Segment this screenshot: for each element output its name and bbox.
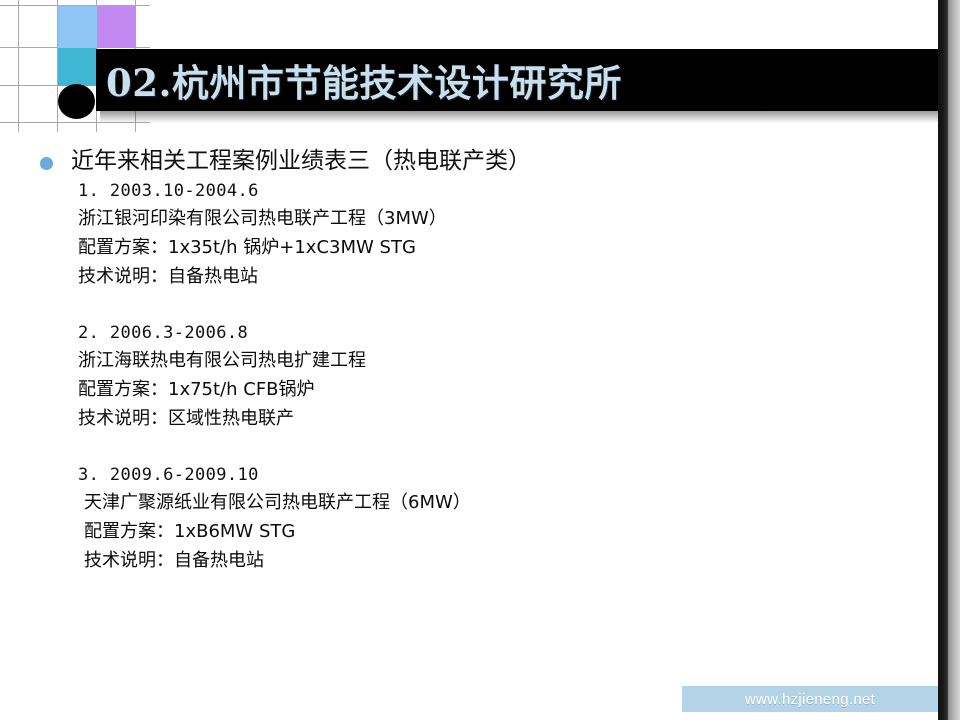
entry-configuration: 配置方案：1x75t/h CFB锅炉	[78, 375, 898, 404]
title-bar-shadow	[100, 111, 942, 123]
entry-project-name: 浙江海联热电有限公司热电扩建工程	[78, 346, 898, 375]
project-entry: 3. 2009.6-2009.10 天津广聚源纸业有限公司热电联产工程（6MW）…	[84, 462, 898, 575]
entry-technical-note: 技术说明：自备热电站	[78, 262, 898, 291]
title-bar: 02.杭州市节能技术设计研究所	[96, 49, 938, 111]
decorative-square-cyan	[58, 48, 97, 86]
slide-title: 02.杭州市节能技术设计研究所	[106, 53, 622, 107]
entry-date-range: 2. 2006.3-2006.8	[78, 320, 898, 346]
decorative-circle	[58, 84, 95, 119]
bullet-dot-icon	[40, 157, 53, 170]
entry-technical-note: 技术说明：区域性热电联产	[78, 404, 898, 433]
entry-configuration: 配置方案：1xB6MW STG	[84, 517, 898, 546]
decorative-square-violet	[97, 6, 136, 48]
footer-watermark-band: www.hzjieneng.net	[682, 686, 938, 712]
entry-configuration: 配置方案：1x35t/h 锅炉+1xC3MW STG	[78, 233, 898, 262]
page-edge-gradient	[948, 0, 960, 720]
entry-date-range: 1. 2003.10-2004.6	[78, 178, 898, 204]
decorative-square-light-blue	[58, 6, 97, 48]
project-entry: 1. 2003.10-2004.6 浙江银河印染有限公司热电联产工程（3MW） …	[78, 178, 898, 291]
project-entry: 2. 2006.3-2006.8 浙江海联热电有限公司热电扩建工程 配置方案：1…	[78, 320, 898, 433]
entry-project-name: 天津广聚源纸业有限公司热电联产工程（6MW）	[84, 488, 898, 517]
footer-website-url: www.hzjieneng.net	[745, 691, 875, 708]
entry-technical-note: 技术说明：自备热电站	[84, 546, 898, 575]
project-entry-list: 1. 2003.10-2004.6 浙江银河印染有限公司热电联产工程（3MW） …	[78, 178, 898, 575]
entry-date-range: 3. 2009.6-2009.10	[78, 462, 898, 488]
page-edge-dark	[938, 0, 948, 720]
slide-content: 近年来相关工程案例业绩表三（热电联产类） 1. 2003.10-2004.6 浙…	[0, 140, 940, 680]
headline-text: 近年来相关工程案例业绩表三（热电联产类）	[71, 146, 531, 176]
grid-line-vertical	[18, 0, 19, 132]
headline-row: 近年来相关工程案例业绩表三（热电联产类）	[40, 146, 531, 176]
slide-canvas: 02.杭州市节能技术设计研究所 近年来相关工程案例业绩表三（热电联产类） 1. …	[0, 0, 960, 720]
entry-project-name: 浙江银河印染有限公司热电联产工程（3MW）	[78, 204, 898, 233]
